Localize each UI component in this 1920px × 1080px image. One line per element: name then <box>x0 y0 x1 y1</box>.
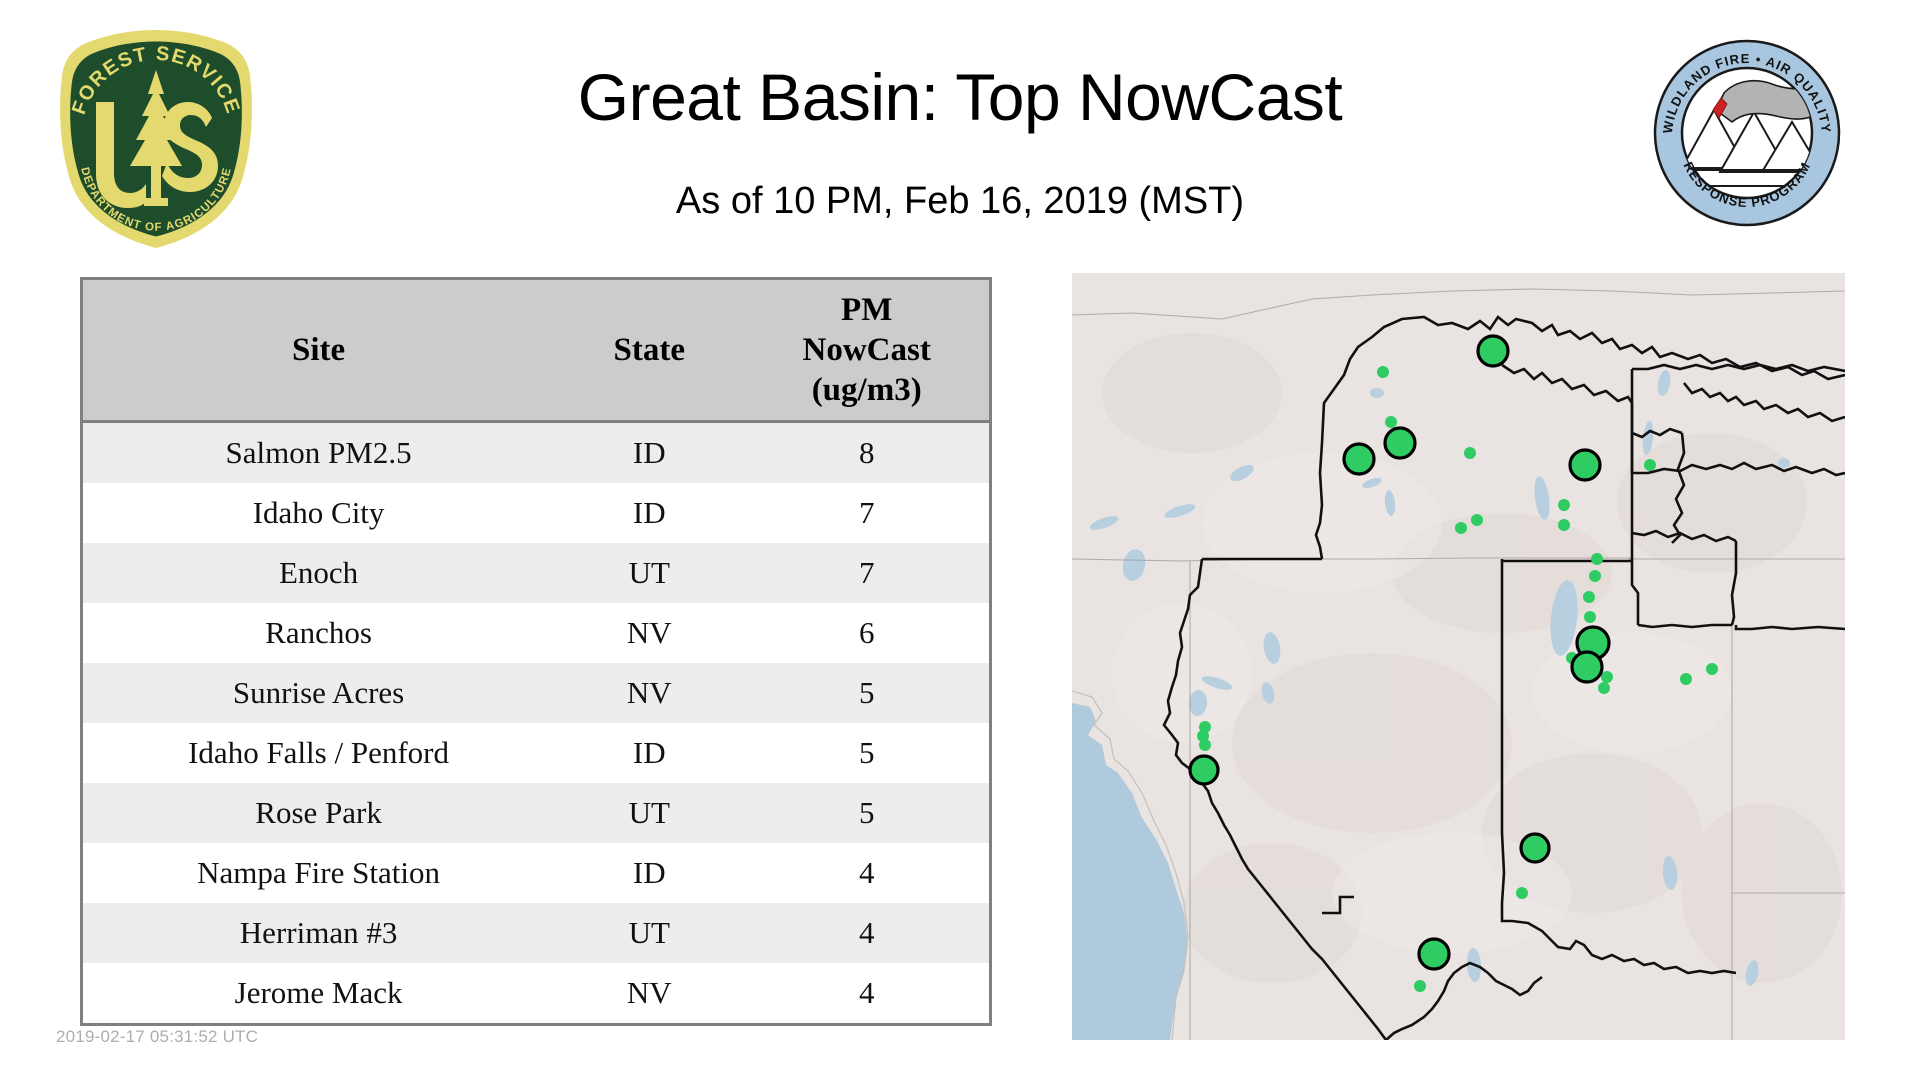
table-row: Salmon PM2.5ID8 <box>83 422 989 484</box>
cell-value: 5 <box>744 783 989 843</box>
great-basin-monitor-map[interactable] <box>1072 273 1845 1040</box>
map-marker-small[interactable] <box>1455 522 1467 534</box>
table-row: Jerome MackNV4 <box>83 963 989 1023</box>
map-marker-small[interactable] <box>1584 611 1596 623</box>
cell-value: 8 <box>744 422 989 484</box>
column-header-site: Site <box>83 280 554 422</box>
table-row: Rose ParkUT5 <box>83 783 989 843</box>
cell-site: Ranchos <box>83 603 554 663</box>
cell-value: 4 <box>744 963 989 1023</box>
page-title: Great Basin: Top NowCast <box>0 60 1920 134</box>
map-marker-site[interactable] <box>1190 756 1218 784</box>
map-marker-site[interactable] <box>1419 939 1449 969</box>
table-row: Nampa Fire StationID4 <box>83 843 989 903</box>
cell-value: 7 <box>744 543 989 603</box>
cell-site: Sunrise Acres <box>83 663 554 723</box>
table-row: EnochUT7 <box>83 543 989 603</box>
map-marker-small[interactable] <box>1558 499 1570 511</box>
cell-site: Rose Park <box>83 783 554 843</box>
cell-state: NV <box>554 603 744 663</box>
map-marker-small[interactable] <box>1414 980 1426 992</box>
map-marker-small[interactable] <box>1558 519 1570 531</box>
cell-state: UT <box>554 903 744 963</box>
map-marker-small[interactable] <box>1385 416 1397 428</box>
table-header-row: Site State PM NowCast (ug/m3) <box>83 280 989 422</box>
cell-value: 6 <box>744 603 989 663</box>
map-marker-small[interactable] <box>1706 663 1718 675</box>
column-header-pm-nowcast: PM NowCast (ug/m3) <box>744 280 989 422</box>
map-marker-site[interactable] <box>1344 444 1374 474</box>
cell-site: Enoch <box>83 543 554 603</box>
cell-site: Idaho City <box>83 483 554 543</box>
column-header-pm-line1: PM <box>748 290 985 330</box>
map-marker-small[interactable] <box>1591 553 1603 565</box>
map-marker-small[interactable] <box>1598 682 1610 694</box>
map-marker-small[interactable] <box>1377 366 1389 378</box>
map-marker-small[interactable] <box>1589 570 1601 582</box>
footer-timestamp: 2019-02-17 05:31:52 UTC <box>56 1027 258 1047</box>
cell-value: 4 <box>744 843 989 903</box>
cell-site: Nampa Fire Station <box>83 843 554 903</box>
cell-state: UT <box>554 783 744 843</box>
map-marker-small[interactable] <box>1601 671 1613 683</box>
cell-site: Herriman #3 <box>83 903 554 963</box>
nowcast-table: Site State PM NowCast (ug/m3) Salmon PM2… <box>80 277 992 1026</box>
cell-value: 5 <box>744 663 989 723</box>
table-row: Sunrise AcresNV5 <box>83 663 989 723</box>
table-row: Idaho CityID7 <box>83 483 989 543</box>
map-marker-small[interactable] <box>1464 447 1476 459</box>
column-header-pm-line3: (ug/m3) <box>748 370 985 410</box>
cell-state: NV <box>554 663 744 723</box>
map-marker-site[interactable] <box>1570 450 1600 480</box>
map-marker-site[interactable] <box>1521 834 1549 862</box>
map-marker-site[interactable] <box>1385 428 1415 458</box>
column-header-state: State <box>554 280 744 422</box>
table-row: Herriman #3UT4 <box>83 903 989 963</box>
cell-state: ID <box>554 843 744 903</box>
map-marker-site[interactable] <box>1478 336 1508 366</box>
cell-state: ID <box>554 422 744 484</box>
cell-site: Salmon PM2.5 <box>83 422 554 484</box>
map-marker-site[interactable] <box>1572 652 1602 682</box>
cell-site: Jerome Mack <box>83 963 554 1023</box>
cell-state: ID <box>554 723 744 783</box>
page-subtitle: As of 10 PM, Feb 16, 2019 (MST) <box>0 178 1920 224</box>
table-row: RanchosNV6 <box>83 603 989 663</box>
table-row: Idaho Falls / PenfordID5 <box>83 723 989 783</box>
cell-value: 4 <box>744 903 989 963</box>
column-header-pm-line2: NowCast <box>748 330 985 370</box>
map-marker-small[interactable] <box>1680 673 1692 685</box>
map-marker-small[interactable] <box>1516 887 1528 899</box>
map-marker-small[interactable] <box>1199 739 1211 751</box>
cell-site: Idaho Falls / Penford <box>83 723 554 783</box>
map-marker-small[interactable] <box>1583 591 1595 603</box>
cell-value: 7 <box>744 483 989 543</box>
cell-state: NV <box>554 963 744 1023</box>
map-marker-small[interactable] <box>1471 514 1483 526</box>
map-marker-small[interactable] <box>1644 459 1656 471</box>
cell-value: 5 <box>744 723 989 783</box>
cell-state: ID <box>554 483 744 543</box>
cell-state: UT <box>554 543 744 603</box>
